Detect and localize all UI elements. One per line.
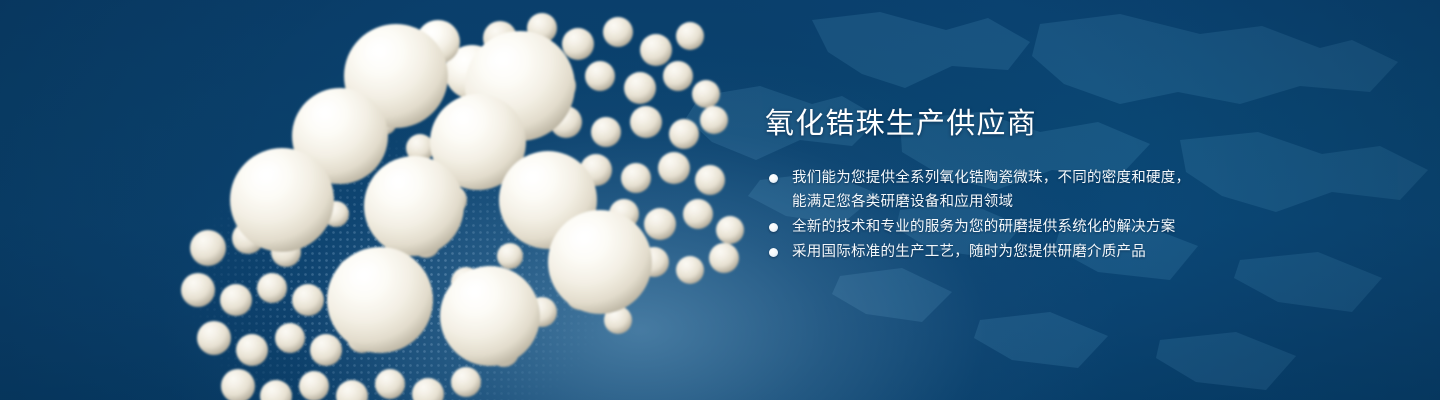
feature-list: 我们能为您提供全系列氧化锆陶瓷微珠，不同的密度和硬度， 能满足您各类研磨设备和应… — [765, 166, 1205, 264]
bullet-dot-icon — [769, 248, 778, 257]
list-item: 采用国际标准的生产工艺，随时为您提供研磨介质产品 — [765, 240, 1205, 264]
bullet-dot-icon — [769, 223, 778, 232]
page-title: 氧化锆珠生产供应商 — [765, 104, 1205, 144]
bullet-line: 我们能为您提供全系列氧化锆陶瓷微珠，不同的密度和硬度， — [792, 166, 1205, 190]
world-map-silhouette — [0, 0, 1440, 400]
bullet-dot-icon — [769, 174, 778, 183]
bullet-line: 全新的技术和专业的服务为您的研磨提供系统化的解决方案 — [792, 215, 1205, 239]
list-item: 我们能为您提供全系列氧化锆陶瓷微珠，不同的密度和硬度， 能满足您各类研磨设备和应… — [765, 166, 1205, 214]
bullet-line: 采用国际标准的生产工艺，随时为您提供研磨介质产品 — [792, 240, 1205, 264]
hero-banner: 氧化锆珠生产供应商 我们能为您提供全系列氧化锆陶瓷微珠，不同的密度和硬度， 能满… — [0, 0, 1440, 400]
bullet-line: 能满足您各类研磨设备和应用领域 — [792, 190, 1205, 214]
banner-copy: 氧化锆珠生产供应商 我们能为您提供全系列氧化锆陶瓷微珠，不同的密度和硬度， 能满… — [765, 104, 1205, 265]
list-item: 全新的技术和专业的服务为您的研磨提供系统化的解决方案 — [765, 215, 1205, 239]
